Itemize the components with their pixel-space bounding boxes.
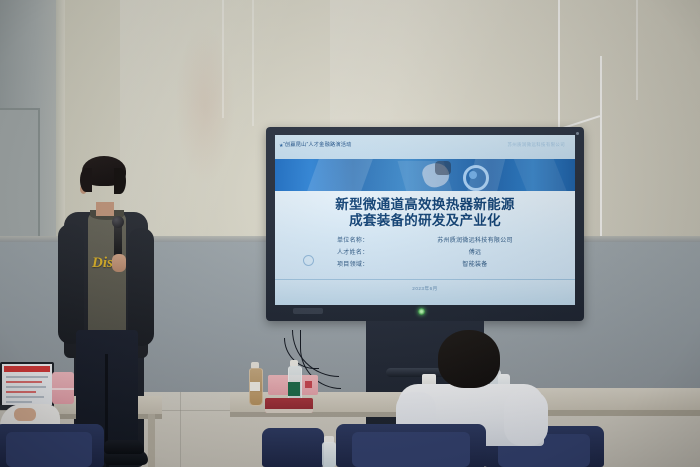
desk-left-leg (148, 414, 155, 467)
notebook-pages (265, 409, 313, 413)
window-frame-line (636, 0, 638, 100)
wall-smudge (175, 25, 235, 185)
banner-ring-motif (463, 165, 489, 191)
attendee-hand (14, 408, 36, 421)
pink-gift-box-label (305, 381, 312, 388)
power-led-icon (418, 308, 425, 315)
laptop-screen-toolbar (4, 366, 50, 372)
microphone-icon (112, 216, 124, 228)
chair-backrest (6, 432, 92, 467)
attendee-shoulder (504, 390, 548, 446)
presenter-arm-left (58, 224, 84, 344)
window-frame-line (558, 0, 560, 132)
info-value-company: 苏州质润微远科技有限公司 (415, 235, 535, 244)
slide-banner-image (275, 159, 575, 191)
laptop-screen-row (6, 381, 42, 383)
slide-date: 2023年6月 (275, 286, 575, 292)
banner-shape (305, 159, 375, 191)
pink-folder-bag-seam (52, 388, 74, 390)
presenter-hand (112, 254, 126, 272)
display-screen: ★ “创赢昆山”人才金融路演活动 苏州质润微远科技有限公司 新型微通道高效换热器 (275, 135, 575, 305)
slide-title: 新型微通道高效换热器新能源 成套装备的研发及产业化 (275, 197, 575, 229)
banner-ring-core (469, 171, 477, 179)
info-label-name: 人才姓名： (337, 247, 407, 256)
slide-circle-decoration (303, 255, 314, 266)
display-sensor-dot (576, 132, 579, 135)
laptop-screen-row (6, 396, 44, 398)
banner-shape (514, 159, 569, 191)
window-frame-line (222, 0, 224, 118)
slide-title-line-2: 成套装备的研发及产业化 (275, 213, 575, 229)
chair-backrest (352, 432, 470, 467)
slide-footer-bar: 2023年6月 (275, 279, 575, 305)
laptop-screen-row (6, 391, 36, 393)
slide-title-line-1: 新型微通道高效换热器新能源 (275, 197, 575, 213)
laptop-screen-row (6, 376, 48, 378)
laptop-screen (0, 362, 54, 410)
bottle-label (288, 382, 300, 396)
wall-mounted-display[interactable]: ★ “创赢昆山”人才金融路演活动 苏州质润微远科技有限公司 新型微通道高效换热器 (266, 127, 584, 321)
bottle-label (250, 382, 260, 391)
laptop-screen-row (6, 386, 46, 388)
slide-header-event-title: “创赢昆山”人才金融路演活动 (283, 141, 352, 148)
slide-header-bar: ★ “创赢昆山”人才金融路演活动 苏州质润微远科技有限公司 (275, 135, 575, 159)
window-frame-line (600, 56, 602, 238)
conference-room-photo: ★ “创赢昆山”人才金融路演活动 苏州质润微远科技有限公司 新型微通道高效换热器 (0, 0, 700, 467)
info-value-field: 智能装备 (415, 259, 535, 268)
chair (262, 428, 324, 467)
info-value-name: 傅远 (415, 247, 535, 256)
info-label-company: 单位名称： (337, 235, 407, 244)
info-label-field: 项目领域： (337, 259, 407, 268)
bystander-shoe (104, 440, 144, 454)
window-frame-line (252, 0, 254, 126)
display-control-panel[interactable] (293, 308, 323, 314)
presenter-arm-right (128, 228, 154, 346)
presenter-hair-side (80, 168, 92, 192)
bystander-leg-seam (105, 354, 108, 448)
slide-header-company: 苏州质润微远科技有限公司 (508, 142, 566, 148)
banner-device-photo (435, 161, 451, 175)
presenter-hair-side (114, 168, 126, 194)
left-wall-panel (0, 108, 40, 242)
attendee-head (438, 330, 500, 388)
water-bottle-clear (322, 442, 336, 467)
slide-body: 新型微通道高效换热器新能源 成套装备的研发及产业化 单位名称： 苏州质润微远科技… (275, 191, 575, 279)
laptop-screen-row (6, 401, 32, 403)
